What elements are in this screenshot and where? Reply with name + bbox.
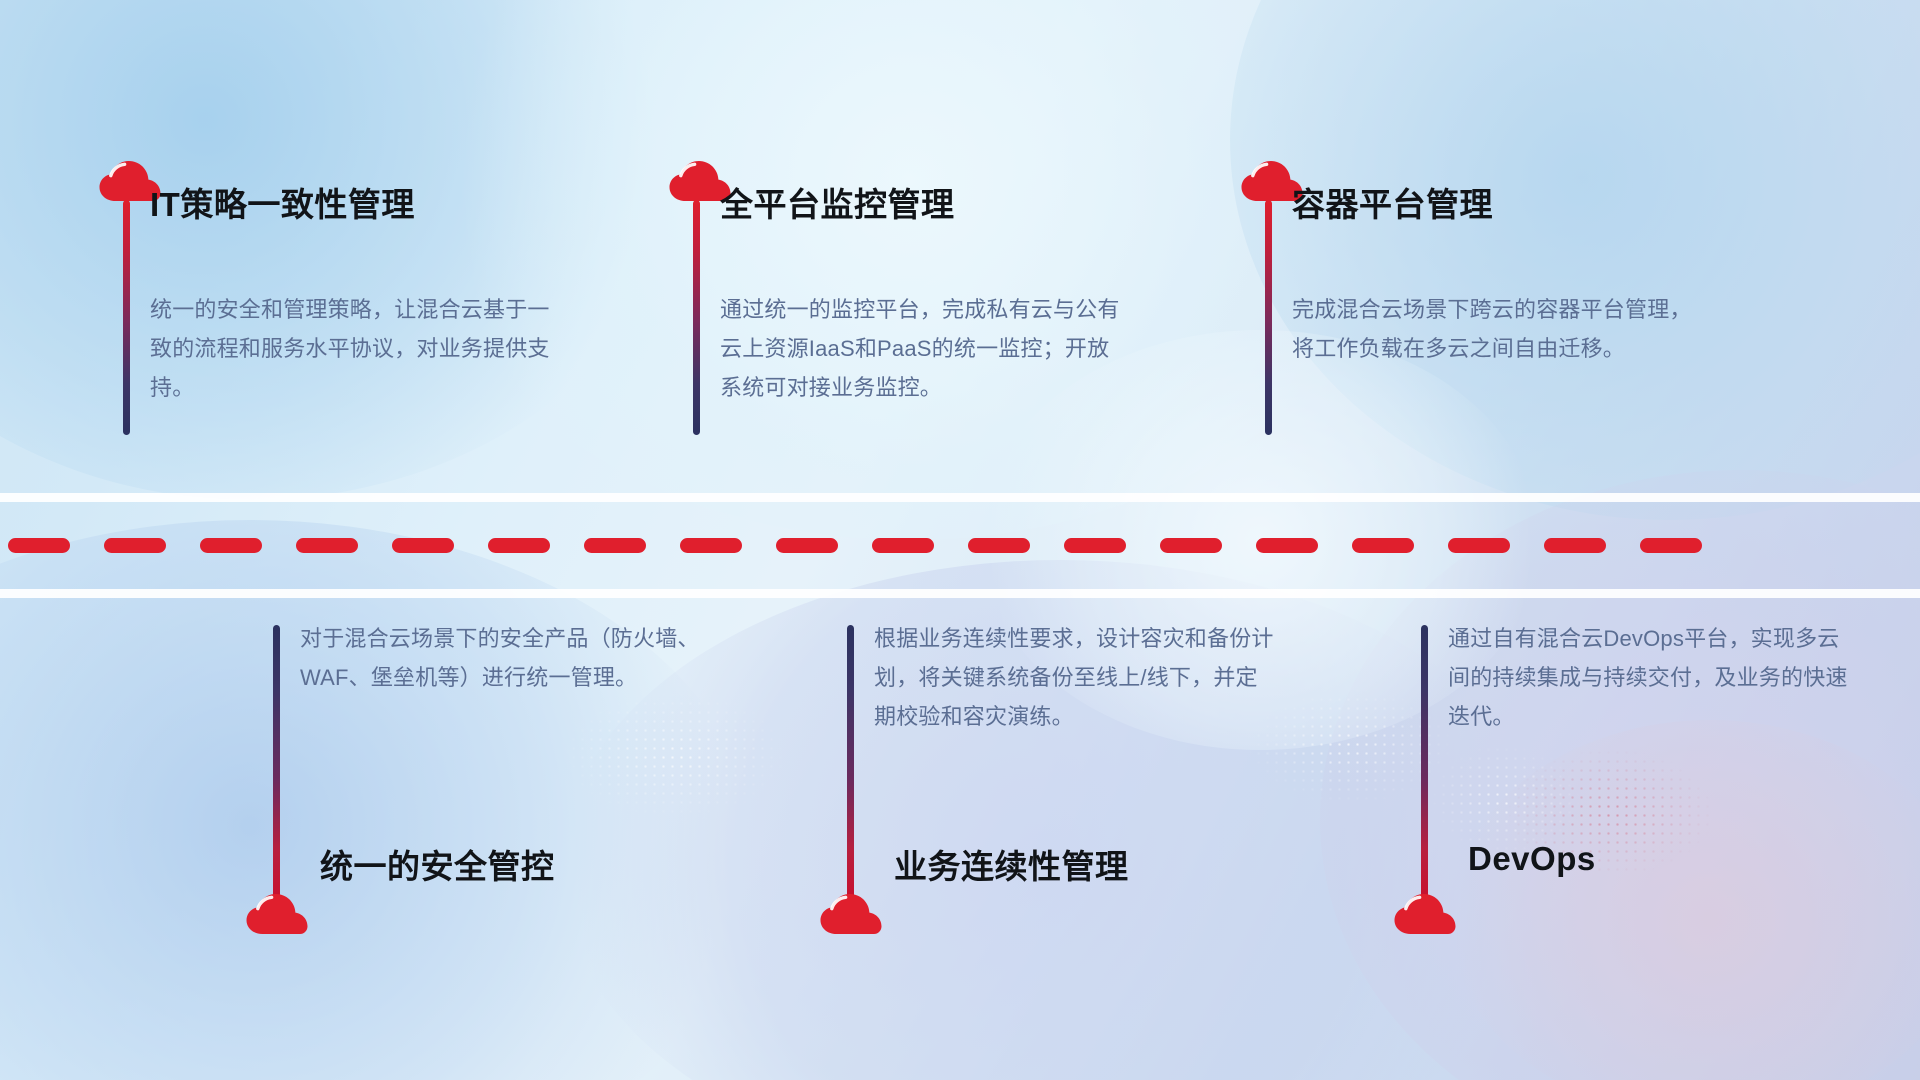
road-dash bbox=[1352, 538, 1414, 553]
pin-stem bbox=[1421, 625, 1428, 900]
background-blob bbox=[1450, 720, 1920, 1080]
road-dashed-centerline bbox=[0, 538, 1920, 553]
road-dash bbox=[1640, 538, 1702, 553]
feature-description: 通过自有混合云DevOps平台，实现多云间的持续集成与持续交付，及业务的快速迭代… bbox=[1448, 619, 1848, 736]
cloud-icon bbox=[245, 893, 309, 937]
road-dash bbox=[296, 538, 358, 553]
feature-heading: 统一的安全管控 bbox=[320, 840, 555, 888]
feature-heading: 容器平台管理 bbox=[1292, 178, 1493, 226]
road-dash bbox=[1160, 538, 1222, 553]
road-dash bbox=[8, 538, 70, 553]
pin-stem bbox=[847, 625, 854, 900]
road-dash bbox=[392, 538, 454, 553]
road-line-bottom bbox=[0, 589, 1920, 598]
road-dash bbox=[968, 538, 1030, 553]
feature-description: 完成混合云场景下跨云的容器平台管理，将工作负载在多云之间自由迁移。 bbox=[1292, 290, 1692, 368]
background-blob bbox=[0, 520, 760, 1080]
background-blob bbox=[1320, 470, 1920, 1080]
road-dash bbox=[872, 538, 934, 553]
pin-stem bbox=[123, 200, 130, 435]
background-blob bbox=[420, 0, 1400, 540]
road-dash bbox=[104, 538, 166, 553]
road-dash bbox=[488, 538, 550, 553]
road-dash bbox=[776, 538, 838, 553]
pin-stem bbox=[693, 200, 700, 435]
pin-stem bbox=[1265, 200, 1272, 435]
infographic-canvas: IT策略一致性管理 统一的安全和管理策略，让混合云基于一致的流程和服务水平协议，… bbox=[0, 0, 1920, 1080]
road-line-top bbox=[0, 493, 1920, 502]
feature-heading: IT策略一致性管理 bbox=[150, 178, 415, 226]
road-dash bbox=[1544, 538, 1606, 553]
feature-heading: 业务连续性管理 bbox=[894, 840, 1129, 888]
road-dash bbox=[1064, 538, 1126, 553]
road-dash bbox=[584, 538, 646, 553]
cloud-icon bbox=[819, 893, 883, 937]
pin-stem bbox=[273, 625, 280, 900]
road-dash bbox=[1256, 538, 1318, 553]
background-blob bbox=[0, 0, 700, 500]
road-dash bbox=[1448, 538, 1510, 553]
feature-heading: DevOps bbox=[1468, 840, 1596, 878]
feature-description: 统一的安全和管理策略，让混合云基于一致的流程和服务水平协议，对业务提供支持。 bbox=[150, 290, 550, 407]
feature-description: 根据业务连续性要求，设计容灾和备份计划，将关键系统备份至线上/线下，并定期校验和… bbox=[874, 619, 1274, 736]
dot-texture bbox=[1430, 745, 1580, 855]
feature-description: 通过统一的监控平台，完成私有云与公有云上资源IaaS和PaaS的统一监控；开放系… bbox=[720, 290, 1120, 407]
feature-heading: 全平台监控管理 bbox=[720, 178, 955, 226]
cloud-icon bbox=[1393, 893, 1457, 937]
road-dash bbox=[680, 538, 742, 553]
dot-texture bbox=[560, 690, 790, 820]
road-dash bbox=[200, 538, 262, 553]
background-blob bbox=[1230, 0, 1920, 520]
feature-description: 对于混合云场景下的安全产品（防火墙、WAF、堡垒机等）进行统一管理。 bbox=[300, 619, 700, 697]
